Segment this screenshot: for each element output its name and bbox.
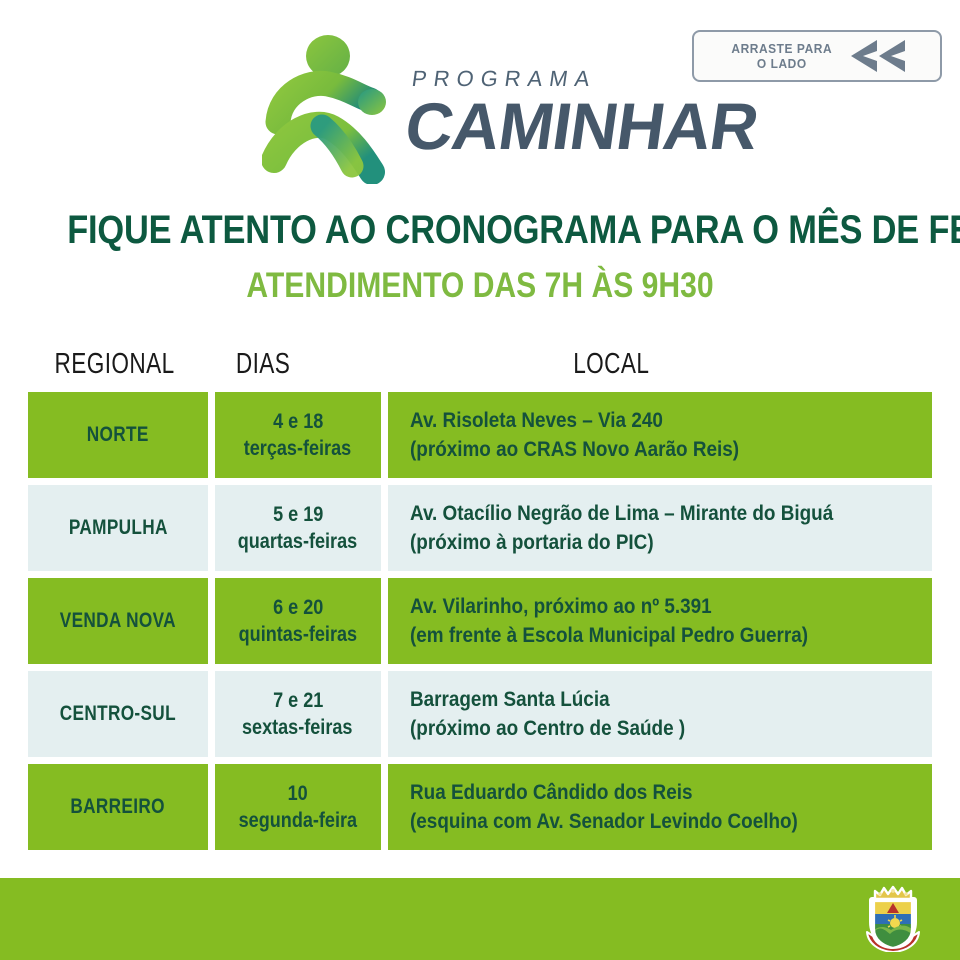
column-header-local: LOCAL (386, 348, 807, 381)
dias-weekday: terças-feiras (244, 435, 351, 462)
local-address: Barragem Santa Lúcia (410, 685, 610, 714)
cell-regional: PAMPULHA (28, 485, 208, 571)
dias-numbers: 6 e 20 (273, 594, 323, 621)
municipal-coat-of-arms-icon (864, 882, 922, 952)
table-row: PAMPULHA5 e 19quartas-feirasAv. Otacílio… (28, 485, 932, 571)
cell-local: Rua Eduardo Cândido dos Reis(esquina com… (388, 764, 932, 850)
local-reference: (em frente à Escola Municipal Pedro Guer… (410, 621, 808, 650)
dias-numbers: 5 e 19 (273, 501, 323, 528)
dias-weekday: quintas-feiras (238, 621, 356, 648)
cell-dias: 7 e 21sextas-feiras (215, 671, 381, 757)
table-header-row: REGIONAL DIAS LOCAL (28, 337, 932, 392)
local-reference: (próximo ao Centro de Saúde ) (410, 714, 685, 743)
dias-numbers: 10 (288, 780, 308, 807)
cell-regional: CENTRO-SUL (28, 671, 208, 757)
column-header-regional: REGIONAL (28, 348, 173, 381)
cell-regional: VENDA NOVA (28, 578, 208, 664)
page-subheadline: ATENDIMENTO DAS 7H ÀS 9H30 (67, 266, 893, 306)
dias-weekday: quartas-feiras (238, 528, 357, 555)
regional-name: NORTE (87, 423, 149, 447)
column-header-dias: DIAS (214, 348, 348, 381)
cell-dias: 5 e 19quartas-feiras (215, 485, 381, 571)
double-chevron-left-icon (851, 39, 907, 73)
regional-name: CENTRO-SUL (60, 702, 176, 726)
table-row: BARREIRO10segunda-feiraRua Eduardo Cândi… (28, 764, 932, 850)
local-reference: (próximo à portaria do PIC) (410, 528, 654, 557)
schedule-table: REGIONAL DIAS LOCAL NORTE4 e 18terças-fe… (28, 337, 932, 857)
running-figure-icon (262, 32, 402, 184)
cell-local: Barragem Santa Lúcia(próximo ao Centro d… (388, 671, 932, 757)
program-logo: PROGRAMA CAMINHAR (262, 28, 712, 188)
dias-numbers: 7 e 21 (273, 687, 323, 714)
cell-regional: BARREIRO (28, 764, 208, 850)
table-row: VENDA NOVA6 e 20quintas-feirasAv. Vilari… (28, 578, 932, 664)
regional-name: BARREIRO (71, 795, 165, 819)
regional-name: PAMPULHA (68, 516, 167, 540)
dias-weekday: segunda-feira (238, 807, 356, 834)
table-row: CENTRO-SUL7 e 21sextas-feirasBarragem Sa… (28, 671, 932, 757)
dias-numbers: 4 e 18 (273, 408, 323, 435)
cell-dias: 6 e 20quintas-feiras (215, 578, 381, 664)
regional-name: VENDA NOVA (60, 609, 176, 633)
local-address: Av. Risoleta Neves – Via 240 (410, 406, 663, 435)
cell-local: Av. Otacílio Negrão de Lima – Mirante do… (388, 485, 932, 571)
logo-caminhar-text: CAMINHAR (402, 94, 762, 158)
cell-regional: NORTE (28, 392, 208, 478)
cell-dias: 10segunda-feira (215, 764, 381, 850)
table-row: NORTE4 e 18terças-feirasAv. Risoleta Nev… (28, 392, 932, 478)
dias-weekday: sextas-feiras (242, 714, 352, 741)
local-reference: (próximo ao CRAS Novo Aarão Reis) (410, 435, 739, 464)
page-headline: FIQUE ATENTO AO CRONOGRAMA PARA O MÊS DE… (67, 208, 893, 253)
local-address: Av. Otacílio Negrão de Lima – Mirante do… (410, 499, 833, 528)
cell-dias: 4 e 18terças-feiras (215, 392, 381, 478)
cell-local: Av. Risoleta Neves – Via 240(próximo ao … (388, 392, 932, 478)
footer-band (0, 878, 960, 960)
logo-wordmark: PROGRAMA CAMINHAR (406, 58, 757, 158)
cell-local: Av. Vilarinho, próximo ao nº 5.391(em fr… (388, 578, 932, 664)
local-address: Av. Vilarinho, próximo ao nº 5.391 (410, 592, 712, 621)
local-address: Rua Eduardo Cândido dos Reis (410, 778, 692, 807)
swipe-hint-line-1: ARRASTE PARA (732, 41, 833, 56)
local-reference: (esquina com Av. Senador Levindo Coelho) (410, 807, 798, 836)
